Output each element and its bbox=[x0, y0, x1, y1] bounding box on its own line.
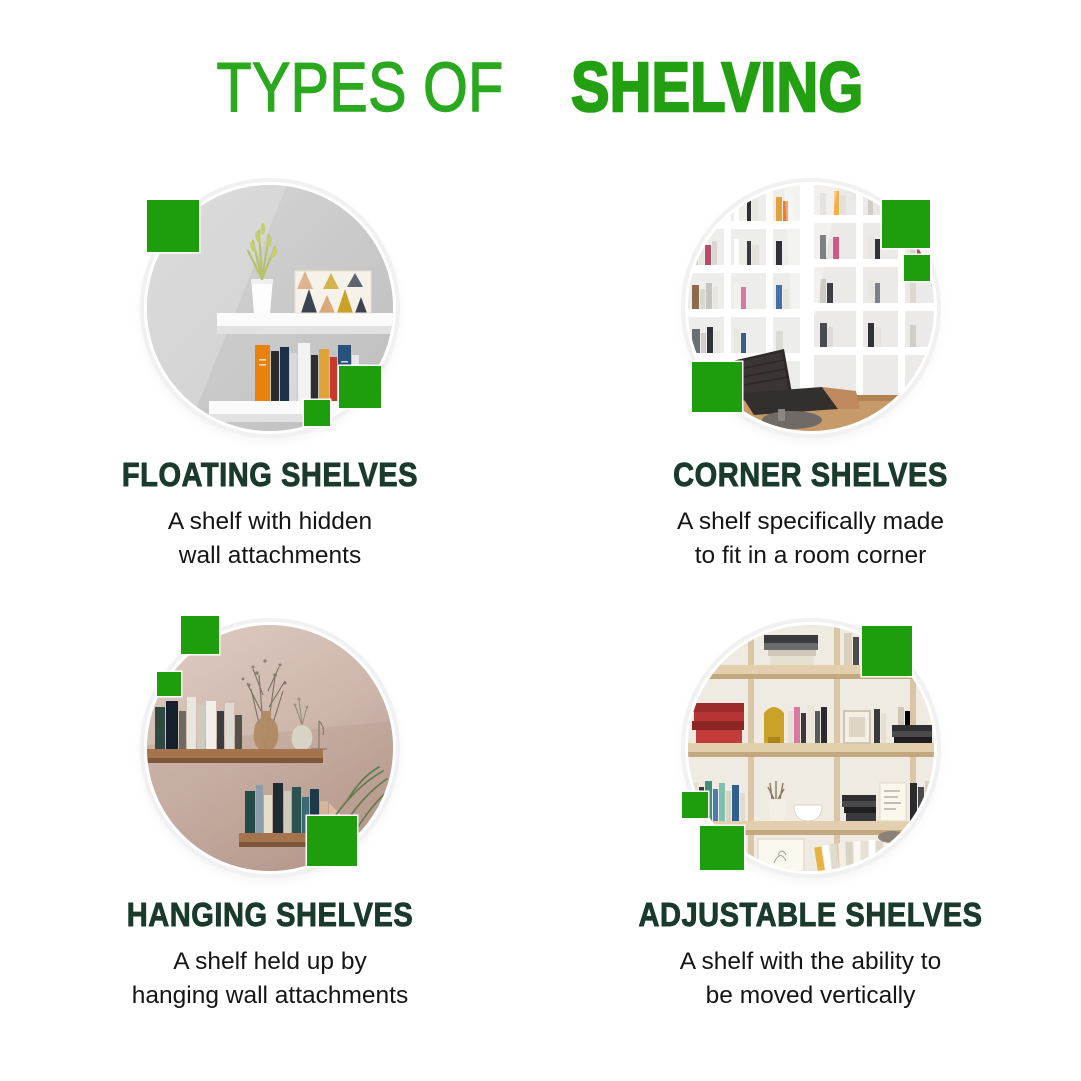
accent-square-top-right bbox=[862, 626, 912, 676]
page-title-bold: SHELVING bbox=[571, 52, 863, 122]
accent-square-bottom-right bbox=[307, 816, 357, 866]
card-adjustable-shelves[interactable]: ADJUSTABLE SHELVES A shelf with the abil… bbox=[540, 610, 1081, 1050]
card-corner-shelves[interactable]: CORNER SHELVES A shelf specifically made… bbox=[540, 170, 1081, 610]
card-heading: ADJUSTABLE SHELVES bbox=[572, 898, 1048, 933]
card-description-line-1: A shelf with the ability to bbox=[540, 945, 1081, 979]
accent-square-right-small bbox=[904, 255, 930, 281]
card-media bbox=[666, 170, 956, 440]
card-floating-shelves[interactable]: FLOATING SHELVES A shelf with hidden wal… bbox=[0, 170, 540, 610]
card-caption: FLOATING SHELVES A shelf with hidden wal… bbox=[0, 458, 540, 573]
card-description: A shelf specifically made to fit in a ro… bbox=[540, 505, 1081, 573]
card-description-line-1: A shelf specifically made bbox=[540, 505, 1081, 539]
card-description: A shelf with the ability to be moved ver… bbox=[540, 945, 1081, 1013]
card-caption: HANGING SHELVES A shelf held up by hangi… bbox=[0, 898, 540, 1013]
accent-square-bottom-left bbox=[692, 362, 742, 412]
card-description: A shelf with hidden wall attachments bbox=[0, 505, 540, 573]
accent-square-bottom-left bbox=[700, 826, 744, 870]
card-description-line-2: be moved vertically bbox=[540, 979, 1081, 1013]
accent-square-top-right bbox=[882, 200, 930, 248]
card-description-line-2: to fit in a room corner bbox=[540, 539, 1081, 573]
page-title-light: TYPES OF bbox=[217, 52, 504, 122]
accent-square-left-small bbox=[682, 792, 708, 818]
card-description-line-2: hanging wall attachments bbox=[0, 979, 540, 1013]
card-description-line-1: A shelf with hidden bbox=[0, 505, 540, 539]
card-hanging-shelves[interactable]: HANGING SHELVES A shelf held up by hangi… bbox=[0, 610, 540, 1050]
card-heading: FLOATING SHELVES bbox=[32, 458, 507, 493]
accent-square-bottom-small bbox=[304, 400, 330, 426]
card-caption: ADJUSTABLE SHELVES A shelf with the abil… bbox=[540, 898, 1081, 1013]
accent-square-bottom-right bbox=[339, 366, 381, 408]
card-caption: CORNER SHELVES A shelf specifically made… bbox=[540, 458, 1081, 573]
shelving-card-grid: FLOATING SHELVES A shelf with hidden wal… bbox=[0, 170, 1081, 1050]
card-description-line-1: A shelf held up by bbox=[0, 945, 540, 979]
card-heading: HANGING SHELVES bbox=[32, 898, 507, 933]
infographic-poster: TYPES OFSHELVING bbox=[0, 0, 1081, 1081]
card-media bbox=[125, 610, 415, 880]
card-description-line-2: wall attachments bbox=[0, 539, 540, 573]
card-description: A shelf held up by hanging wall attachme… bbox=[0, 945, 540, 1013]
page-title: TYPES OFSHELVING bbox=[0, 52, 1081, 122]
accent-square-left-small bbox=[157, 672, 181, 696]
card-media bbox=[666, 610, 956, 880]
accent-square-top-left bbox=[181, 616, 219, 654]
card-heading: CORNER SHELVES bbox=[572, 458, 1048, 493]
card-media bbox=[125, 170, 415, 440]
accent-square-top-left bbox=[147, 200, 199, 252]
